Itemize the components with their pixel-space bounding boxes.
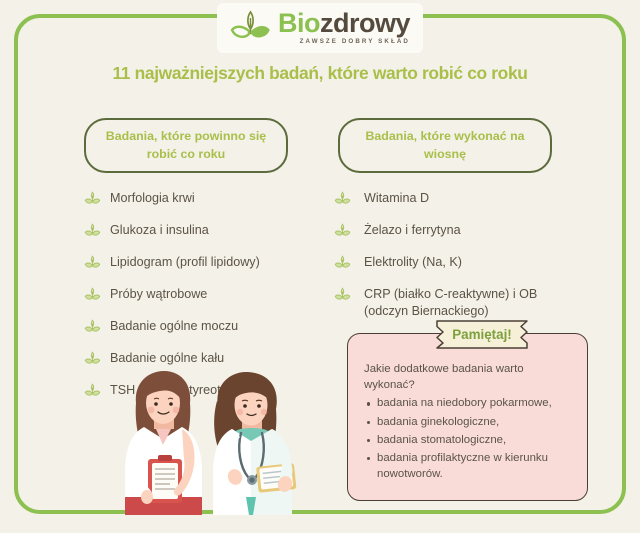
infographic-page: Biozdrowy ZAWSZE DOBRY SKŁAD 11 najważni… [0,0,640,533]
leaf-sprout-icon [334,287,351,304]
leaf-sprout-icon [334,255,351,272]
logo-tagline: ZAWSZE DOBRY SKŁAD [278,39,410,45]
logo-word-zdrowy: zdrowy [320,8,410,38]
list-item-label: Próby wątrobowe [110,286,207,303]
doctor-left [125,371,202,515]
two-female-doctors-illustration [96,367,328,515]
list-spring-tests: Witamina D Żelazo i ferrytyna [334,190,562,320]
list-item: Elektrolity (Na, K) [334,254,562,272]
remember-box: Jakie dodatkowe badania warto wykonać? b… [347,333,588,501]
remember-list-item: badania profilaktyczne w kierunku nowotw… [364,451,573,482]
remember-list-item: badania ginekologiczne, [364,415,573,431]
list-item: Próby wątrobowe [84,286,302,304]
brand-logo: Biozdrowy ZAWSZE DOBRY SKŁAD [217,3,423,53]
list-item: CRP (białko C-reaktywne) i OB (odczyn Bi… [334,286,562,320]
list-item-label: Glukoza i insulina [110,222,209,239]
leaf-sprout-icon [84,319,101,336]
remember-question: Jakie dodatkowe badania warto wykonać? [364,361,573,393]
list-item-label: Morfologia krwi [110,190,195,207]
leaf-sprout-icon [334,191,351,208]
list-item: Badanie ogólne kału [84,350,302,368]
doctor-right [213,372,297,515]
remember-list: badania na niedobory pokarmowe, badania … [364,396,573,482]
list-item: Żelazo i ferrytyna [334,222,562,240]
column-heading-yearly: Badania, które powinno się robić co roku [84,118,288,173]
leaf-sprout-icon [84,351,101,368]
list-item-label: Badanie ogólne moczu [110,318,238,335]
list-item-label: Witamina D [364,190,429,207]
leaf-sprout-icon [84,287,101,304]
leaf-sprout-icon [84,191,101,208]
list-item: Badanie ogólne moczu [84,318,302,336]
leaf-sprout-icon [334,223,351,240]
column-heading-spring: Badania, które wykonać na wiosnę [338,118,552,173]
remember-list-item: badania stomatologiczne, [364,433,573,449]
remember-list-item: badania na niedobory pokarmowe, [364,396,573,412]
list-item: Lipidogram (profil lipidowy) [84,254,302,272]
logo-word-bio: Bio [278,8,320,38]
page-title: 11 najważniejszych badań, które warto ro… [0,63,640,84]
leaf-sprout-icon [84,223,101,240]
list-item: Glukoza i insulina [84,222,302,240]
list-item: Witamina D [334,190,562,208]
sprout-leaves-icon [230,9,272,47]
list-item: Morfologia krwi [84,190,302,208]
list-item-label: Elektrolity (Na, K) [364,254,462,271]
list-item-label: Żelazo i ferrytyna [364,222,461,239]
list-item-label: Lipidogram (profil lipidowy) [110,254,260,271]
ribbon-label: Pamiętaj! [429,320,535,349]
list-item-label: CRP (białko C-reaktywne) i OB (odczyn Bi… [364,286,562,320]
list-item-label: Badanie ogólne kału [110,350,224,367]
leaf-sprout-icon [84,255,101,272]
column-spring-tests: Badania, które wykonać na wiosnę Witamin… [334,118,562,334]
